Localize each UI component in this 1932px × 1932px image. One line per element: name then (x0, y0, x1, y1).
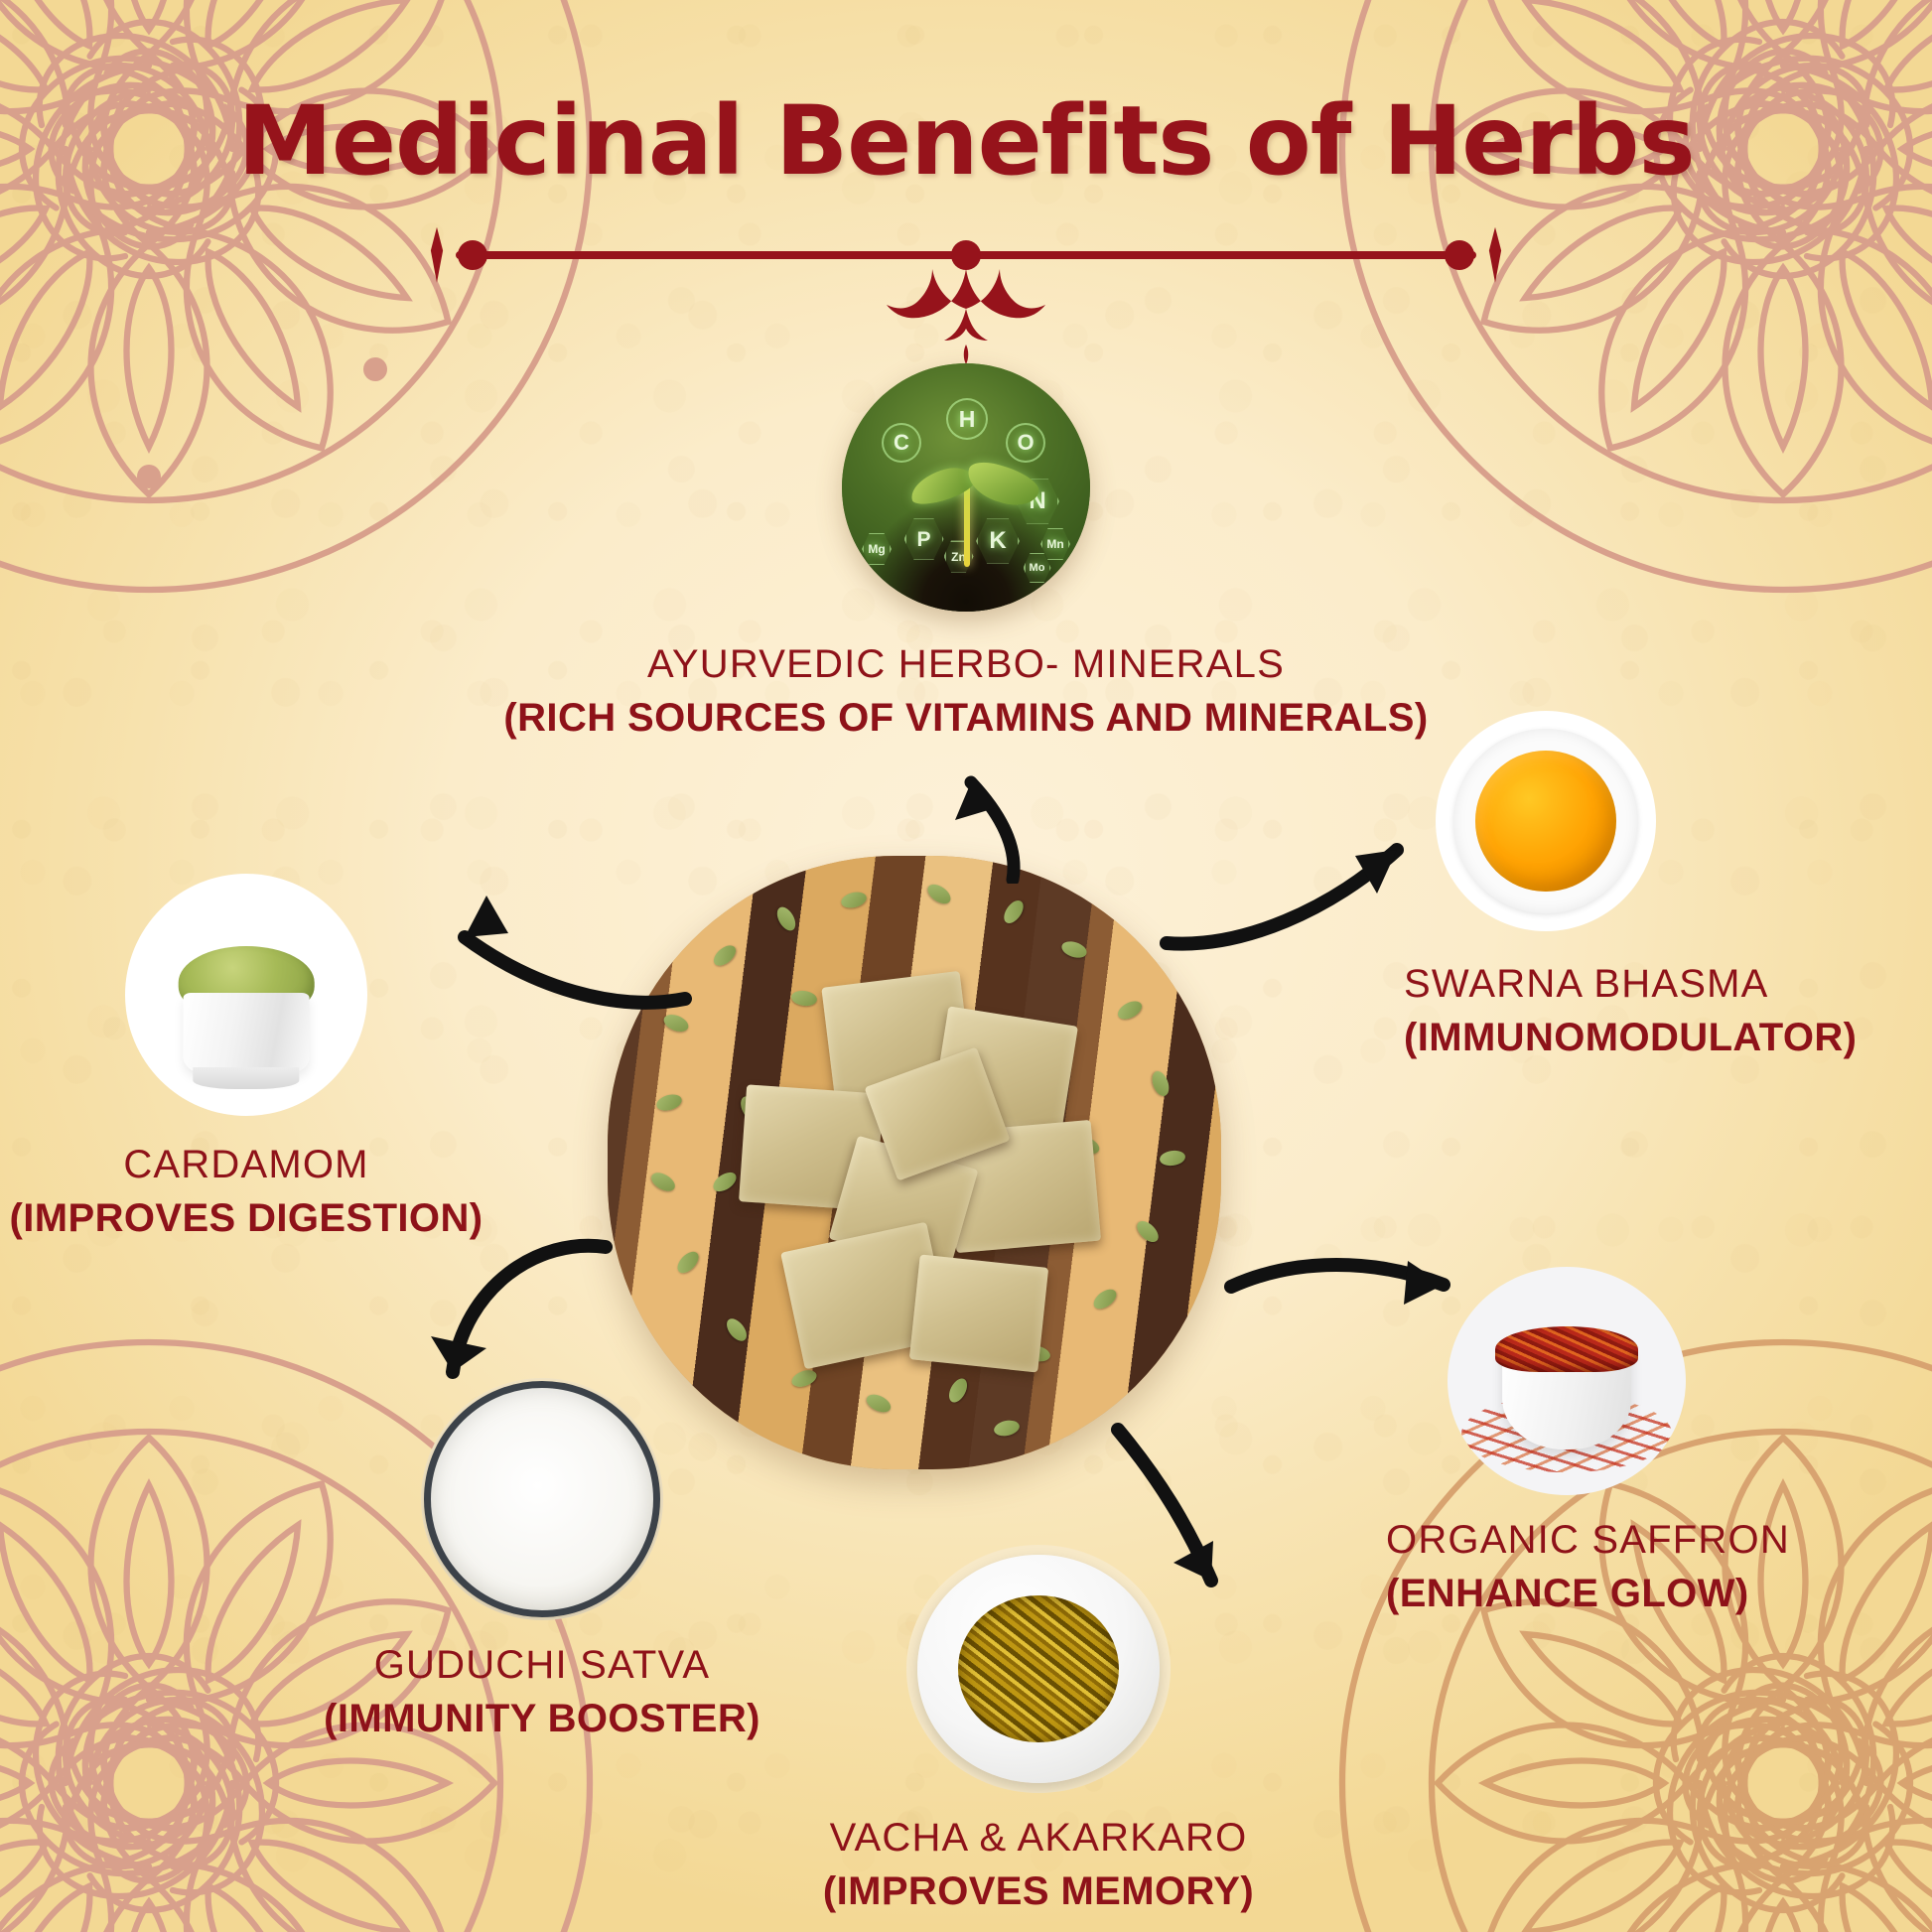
plant-nutrient-diagram: C H O N K P Zn Mg Mn Mo (842, 363, 1090, 612)
guduchi-dish (421, 1378, 663, 1620)
cup-base (193, 1067, 299, 1089)
label-name: AYURVEDIC HERBO- MINERALS (503, 637, 1428, 691)
label-benefit: (IMPROVES MEMORY) (823, 1864, 1254, 1918)
node-ayurvedic-herbo-minerals[interactable]: C H O N K P Zn Mg Mn Mo AYURVEDIC HERBO-… (0, 363, 1932, 745)
label-benefit: (ENHANCE GLOW) (1386, 1567, 1790, 1620)
node-swarna-bhasma[interactable]: SWARNA BHASMA (IMMUNOMODULATOR) (1404, 711, 1920, 1064)
saffron-bowl-image (1448, 1267, 1686, 1495)
nutrient-chip-P: P (904, 517, 944, 561)
poster-header: Medicinal Benefits of Herbs (0, 91, 1932, 343)
white-powder (424, 1381, 660, 1617)
label-name: ORGANIC SAFFRON (1386, 1513, 1790, 1567)
white-bowl (917, 1555, 1161, 1783)
node-vacha-akarkaro[interactable]: VACHA & AKARKARO (IMPROVES MEMORY) (780, 1545, 1297, 1918)
white-cup (184, 993, 310, 1075)
caption-ayurvedic-herbo-minerals: AYURVEDIC HERBO- MINERALS (RICH SOURCES … (503, 637, 1428, 745)
infographic-poster: Medicinal Benefits of Herbs (0, 0, 1932, 1932)
caption-swarna-bhasma: SWARNA BHASMA (IMMUNOMODULATOR) (1404, 957, 1857, 1064)
divider-diamond-left (420, 227, 454, 283)
bowl-rim (1453, 729, 1638, 913)
node-guduchi-satva[interactable]: GUDUCHI SATVA (IMMUNITY BOOSTER) (284, 1378, 800, 1745)
nutrient-chip-O: O (1006, 423, 1045, 463)
saffron-bowl (1448, 1267, 1686, 1495)
saffron-heap (1495, 1326, 1638, 1372)
label-name: GUDUCHI SATVA (324, 1638, 760, 1692)
guduchi-satva-powder-dish-image (421, 1378, 663, 1620)
label-name: VACHA & AKARKARO (823, 1811, 1254, 1864)
page-title: Medicinal Benefits of Herbs (0, 91, 1932, 192)
ornament-flourish-icon (837, 263, 1095, 377)
turmeric-powder (1475, 751, 1616, 892)
plant-nutrients-circle-image: C H O N K P Zn Mg Mn Mo (842, 363, 1090, 612)
nutrient-chip-C: C (882, 423, 921, 463)
nutrient-chip-K: K (976, 517, 1020, 565)
caption-organic-saffron: ORGANIC SAFFRON (ENHANCE GLOW) (1386, 1513, 1790, 1620)
caption-guduchi-satva: GUDUCHI SATVA (IMMUNITY BOOSTER) (324, 1638, 760, 1745)
divider-diamond-right (1478, 227, 1512, 283)
title-divider (420, 213, 1512, 343)
label-benefit: (IMMUNITY BOOSTER) (324, 1692, 760, 1745)
divider-dot-right (1445, 240, 1474, 270)
vacha-akarkaro-bowl-image (906, 1545, 1171, 1793)
turmeric-bowl (1436, 711, 1656, 931)
turmeric-powder-bowl-image (1436, 711, 1656, 931)
nutrient-chip-H: H (946, 398, 988, 440)
cardamom-bowl-image (125, 874, 367, 1116)
barfi-piece (909, 1254, 1048, 1372)
label-benefit: (IMMUNOMODULATOR) (1404, 1011, 1857, 1064)
cardamom-bowl (125, 874, 367, 1116)
node-cardamom[interactable]: CARDAMOM (IMPROVES DIGESTION) (0, 874, 504, 1245)
caption-cardamom: CARDAMOM (IMPROVES DIGESTION) (10, 1138, 483, 1245)
node-organic-saffron[interactable]: ORGANIC SAFFRON (ENHANCE GLOW) (1386, 1267, 1922, 1620)
nutrient-chip-Mg: Mg (862, 532, 892, 566)
vacha-bowl (906, 1545, 1171, 1793)
caption-vacha-akarkaro: VACHA & AKARKARO (IMPROVES MEMORY) (823, 1811, 1254, 1918)
label-benefit: (RICH SOURCES OF VITAMINS AND MINERALS) (503, 691, 1428, 745)
label-name: SWARNA BHASMA (1404, 957, 1857, 1011)
label-benefit: (IMPROVES DIGESTION) (10, 1191, 483, 1245)
dried-roots (958, 1595, 1119, 1741)
sprout-stem (964, 482, 970, 567)
label-name: CARDAMOM (10, 1138, 483, 1191)
